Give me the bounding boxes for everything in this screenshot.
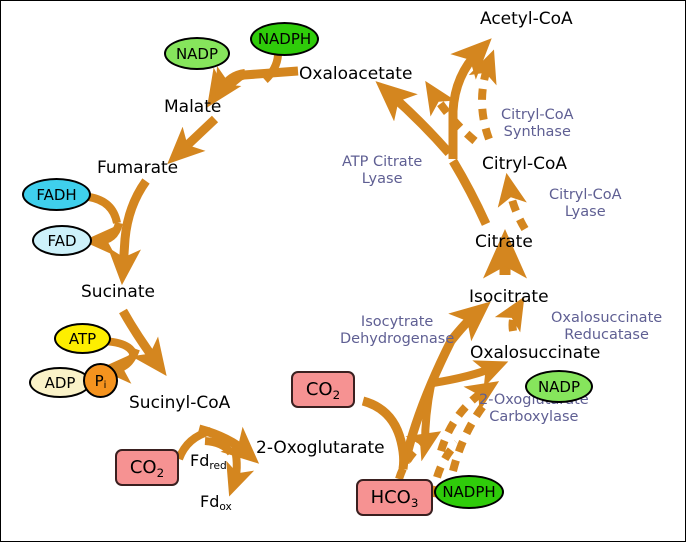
metabolite-sucinyl-coa: Sucinyl-CoA — [129, 393, 230, 413]
cofactor-nadph-top: NADPH — [250, 22, 319, 56]
gasbox-co2-mid: CO2 — [291, 371, 355, 408]
arrow-fadh-to-trunk — [89, 197, 117, 223]
arrow-co2-hook — [425, 385, 431, 445]
enzyme-isocytrate-dehydrogenase-line1: Isocytrate — [340, 314, 454, 331]
metabolite-malate: Malate — [164, 97, 221, 117]
enzyme-citryl-coa-synthase: Citryl-CoA Synthase — [501, 107, 574, 141]
arrow-branchpoint-to-acetylcoa — [453, 51, 479, 159]
arrow-sucinate-to-sucinylcoa — [123, 311, 157, 363]
arrow-co2mid-to-oxoglutarate — [363, 401, 404, 469]
enzyme-oxalosuccinate-reducatase-line2: Reducatase — [551, 327, 662, 344]
enzyme-2-oxoglutarate-carboxylase-line2: Carboxylase — [479, 409, 589, 426]
metabolite-oxaloacetate: Oxaloacetate — [299, 64, 412, 84]
arrow-branchpoint-to-oxaloacetate — [389, 93, 449, 153]
co2-mid-subscript: 2 — [333, 388, 341, 402]
fd-red-subscript: red — [209, 460, 226, 472]
label-fd-ox: Fdox — [200, 492, 232, 511]
metabolite-acetyl-coa: Acetyl-CoA — [480, 9, 573, 29]
label-fd-red: Fdred — [190, 451, 227, 470]
arrow-citrylcoa-to-acetylcoa-dashed — [482, 63, 489, 139]
metabolite-2-oxoglutarate: 2-Oxoglutarate — [256, 438, 385, 458]
enzyme-oxalosuccinate-reducatase: Oxalosuccinate Reducatase — [551, 310, 662, 344]
diagram-canvas: Acetyl-CoA Oxaloacetate Malate Fumarate … — [0, 0, 686, 542]
enzyme-citryl-coa-lyase: Citryl-CoA Lyase — [549, 187, 622, 221]
gasbox-co2-left: CO2 — [115, 449, 179, 486]
arrow-citrate-to-citrylcoa-dashed — [509, 187, 525, 229]
enzyme-oxalosuccinate-reducatase-line1: Oxalosuccinate — [551, 310, 662, 327]
cofactor-fadh: FADH — [22, 178, 91, 211]
cofactor-pi-label: Pi — [95, 372, 107, 390]
cofactor-nadp-top: NADP — [164, 37, 230, 70]
co2-left-subscript: 2 — [157, 466, 165, 480]
metabolite-isocitrate: Isocitrate — [469, 287, 549, 307]
enzyme-citryl-coa-synthase-line2: Synthase — [501, 124, 574, 141]
cofactor-pi: Pi — [83, 363, 118, 398]
gasbox-co2-mid-label: CO2 — [306, 379, 340, 400]
enzyme-isocytrate-dehydrogenase: Isocytrate Dehydrogenase — [340, 314, 454, 348]
enzyme-isocytrate-dehydrogenase-line2: Dehydrogenase — [340, 331, 454, 348]
hco3-subscript: 3 — [411, 496, 419, 510]
enzyme-citryl-coa-lyase-line1: Citryl-CoA — [549, 187, 622, 204]
cofactor-adp: ADP — [29, 367, 91, 398]
cofactor-nadph-bottom: NADPH — [434, 475, 504, 509]
arrow-trunk-to-adp — [113, 349, 136, 369]
metabolite-citryl-coa: Citryl-CoA — [482, 154, 567, 174]
arrow-to-nadp-top — [222, 73, 245, 89]
arrow-trunk-to-fdox — [234, 449, 237, 483]
arrow-malate-to-fumarate — [179, 119, 215, 153]
enzyme-atp-citrate-lyase-line1: ATP Citrate — [342, 154, 422, 171]
cofactor-nadp-bottom: NADP — [525, 370, 593, 403]
cofactor-atp: ATP — [54, 323, 111, 354]
enzyme-citryl-coa-synthase-line1: Citryl-CoA — [501, 107, 574, 124]
gasbox-hco3: HCO3 — [356, 479, 433, 516]
fd-ox-subscript: ox — [219, 501, 231, 513]
arrow-fumarate-to-sucinate — [123, 181, 146, 269]
cofactor-pi-subscript: i — [104, 380, 107, 391]
enzyme-atp-citrate-lyase: ATP Citrate Lyase — [342, 154, 422, 188]
arrow-oxalosuccinate-to-isocitrate-dashed — [513, 309, 518, 331]
gasbox-hco3-label: HCO3 — [371, 487, 419, 508]
cofactor-fad: FAD — [32, 225, 92, 256]
metabolite-citrate: Citrate — [475, 232, 533, 252]
metabolite-sucinate: Sucinate — [81, 282, 155, 302]
enzyme-atp-citrate-lyase-line2: Lyase — [342, 171, 422, 188]
gasbox-co2-left-label: CO2 — [130, 457, 164, 478]
enzyme-citryl-coa-lyase-line2: Lyase — [549, 204, 622, 221]
metabolite-fumarate: Fumarate — [97, 158, 178, 178]
metabolite-oxalosuccinate: Oxalosuccinate — [470, 343, 600, 363]
arrow-trunk-to-fad — [97, 223, 119, 241]
